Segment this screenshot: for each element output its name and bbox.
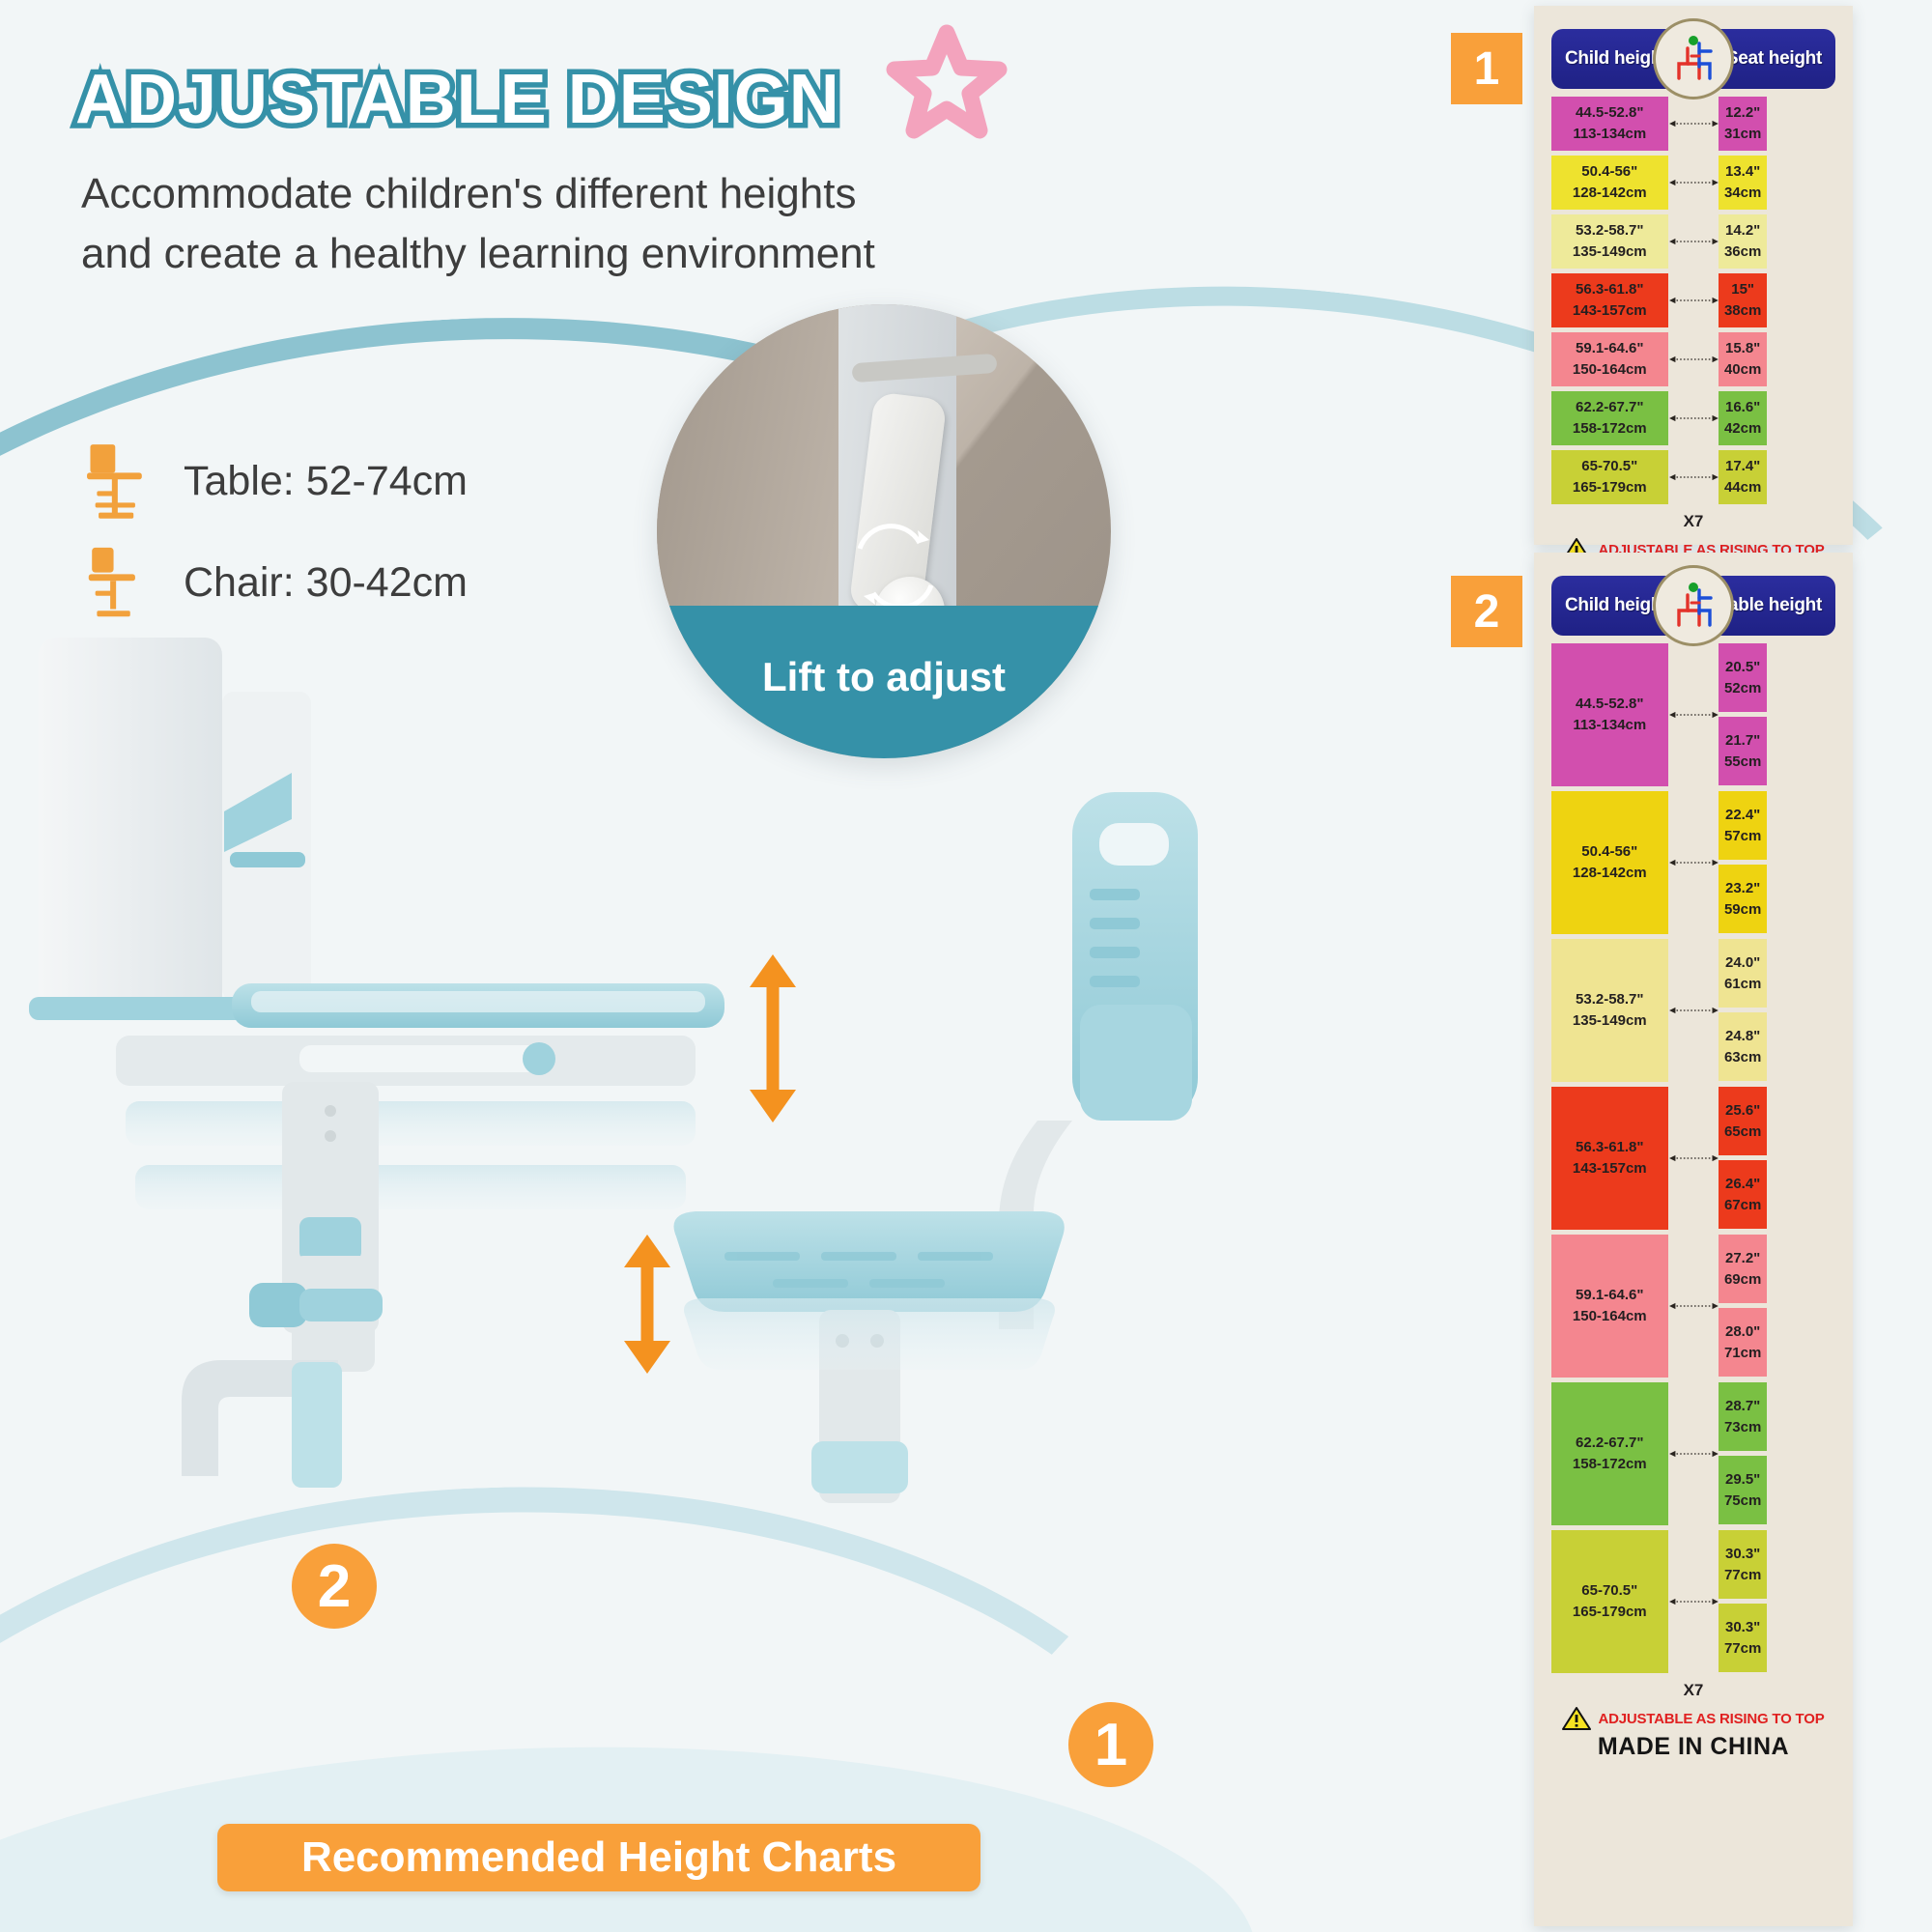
child-height-cell: 44.5-52.8"113-134cm bbox=[1551, 97, 1668, 151]
target-height-group: 30.3"77cm30.3"77cm bbox=[1719, 1530, 1835, 1673]
child-height-cm: 113-134cm bbox=[1573, 124, 1646, 145]
height-inch: 22.4" bbox=[1725, 805, 1760, 826]
badge-chair-adjustment: 1 bbox=[1068, 1702, 1153, 1787]
height-cm: 59cm bbox=[1724, 899, 1761, 921]
subtitle-line-1: Accommodate children's different heights bbox=[81, 164, 1047, 224]
double-arrow-icon bbox=[1668, 1004, 1719, 1017]
table-height-cell: 27.2"69cm bbox=[1719, 1235, 1766, 1303]
height-inch: 28.7" bbox=[1725, 1396, 1760, 1417]
height-cm: 67cm bbox=[1724, 1195, 1761, 1216]
chart-2-header: Child height Table height bbox=[1551, 576, 1835, 636]
chart-2-made-in: MADE IN CHINA bbox=[1551, 1733, 1835, 1761]
table-height-cell: 21.7"55cm bbox=[1719, 717, 1766, 785]
child-height-cm: 113-134cm bbox=[1573, 715, 1646, 736]
chart-marker-1: 1 bbox=[1451, 33, 1522, 104]
table-height-cell: 26.4"67cm bbox=[1719, 1160, 1766, 1229]
row-arrow bbox=[1668, 791, 1719, 934]
chart-row: 59.1-64.6"150-164cm27.2"69cm28.0"71cm bbox=[1551, 1235, 1835, 1378]
target-height-group: 27.2"69cm28.0"71cm bbox=[1719, 1235, 1835, 1378]
chart-2-rows: 44.5-52.8"113-134cm20.5"52cm21.7"55cm50.… bbox=[1551, 643, 1835, 1673]
table-height-cell: 28.0"71cm bbox=[1719, 1308, 1766, 1377]
table-height-cell: 28.7"73cm bbox=[1719, 1382, 1766, 1451]
product-photo bbox=[10, 599, 1381, 1874]
child-height-cell: 53.2-58.7"135-149cm bbox=[1551, 939, 1668, 1082]
target-height-group: 28.7"73cm29.5"75cm bbox=[1719, 1382, 1835, 1525]
child-height-inch: 44.5-52.8" bbox=[1576, 102, 1644, 124]
height-cm: 71cm bbox=[1724, 1343, 1761, 1364]
target-height-group: 17.4"44cm bbox=[1719, 450, 1835, 504]
target-height-group: 12.2"31cm bbox=[1719, 97, 1835, 151]
child-height-inch: 53.2-58.7" bbox=[1576, 220, 1644, 241]
height-inch: 30.3" bbox=[1725, 1617, 1760, 1638]
height-cm: 61cm bbox=[1724, 974, 1761, 995]
child-height-cell: 65-70.5"165-179cm bbox=[1551, 1530, 1668, 1673]
chart-2-header-right: Table height bbox=[1719, 595, 1822, 616]
child-height-cm: 143-157cm bbox=[1573, 300, 1647, 322]
child-height-inch: 56.3-61.8" bbox=[1576, 279, 1644, 300]
row-arrow bbox=[1668, 332, 1719, 386]
row-arrow bbox=[1668, 156, 1719, 210]
height-cm: 65cm bbox=[1724, 1122, 1761, 1143]
chart-1-x7: X7 bbox=[1551, 512, 1835, 531]
seat-height-cell: 15"38cm bbox=[1719, 273, 1766, 327]
child-height-cell: 44.5-52.8"113-134cm bbox=[1551, 643, 1668, 786]
child-height-cm: 158-172cm bbox=[1573, 418, 1647, 440]
child-height-cm: 128-142cm bbox=[1573, 183, 1647, 204]
row-arrow bbox=[1668, 1530, 1719, 1673]
height-inch: 14.2" bbox=[1725, 220, 1760, 241]
double-arrow-icon bbox=[1668, 353, 1719, 366]
child-height-cm: 158-172cm bbox=[1573, 1454, 1647, 1475]
child-height-cell: 62.2-67.7"158-172cm bbox=[1551, 391, 1668, 445]
child-height-cm: 165-179cm bbox=[1573, 1602, 1647, 1623]
child-height-cm: 150-164cm bbox=[1573, 1306, 1647, 1327]
child-height-inch: 65-70.5" bbox=[1581, 1580, 1637, 1602]
height-cm: 42cm bbox=[1724, 418, 1761, 440]
seated-child-icon bbox=[1653, 18, 1734, 99]
double-arrow-icon bbox=[1668, 235, 1719, 248]
target-height-group: 25.6"65cm26.4"67cm bbox=[1719, 1087, 1835, 1230]
height-inch: 16.6" bbox=[1725, 397, 1760, 418]
table-height-cell: 24.8"63cm bbox=[1719, 1012, 1766, 1081]
seated-child-icon bbox=[1653, 565, 1734, 646]
badge-desk-adjustment: 2 bbox=[292, 1544, 377, 1629]
row-arrow bbox=[1668, 450, 1719, 504]
chart-row: 53.2-58.7"135-149cm14.2"36cm bbox=[1551, 214, 1835, 269]
chart-1-rows: 44.5-52.8"113-134cm12.2"31cm50.4-56"128-… bbox=[1551, 97, 1835, 504]
height-cm: 75cm bbox=[1724, 1491, 1761, 1512]
row-arrow bbox=[1668, 273, 1719, 327]
child-height-cm: 150-164cm bbox=[1573, 359, 1647, 381]
child-height-inch: 56.3-61.8" bbox=[1576, 1137, 1644, 1158]
seat-height-cell: 17.4"44cm bbox=[1719, 450, 1766, 504]
height-inch: 23.2" bbox=[1725, 878, 1760, 899]
chart-1-header-right: Seat height bbox=[1726, 48, 1822, 70]
double-arrow-icon bbox=[1668, 1595, 1719, 1608]
seat-height-cell: 16.6"42cm bbox=[1719, 391, 1766, 445]
target-height-group: 20.5"52cm21.7"55cm bbox=[1719, 643, 1835, 786]
height-inch: 28.0" bbox=[1725, 1321, 1760, 1343]
child-height-cell: 53.2-58.7"135-149cm bbox=[1551, 214, 1668, 269]
child-height-cell: 59.1-64.6"150-164cm bbox=[1551, 332, 1668, 386]
target-height-group: 14.2"36cm bbox=[1719, 214, 1835, 269]
chart-row: 44.5-52.8"113-134cm12.2"31cm bbox=[1551, 97, 1835, 151]
height-cm: 57cm bbox=[1724, 826, 1761, 847]
table-height-cell: 30.3"77cm bbox=[1719, 1530, 1766, 1599]
page-title: ADJUSTABLE DESIGN bbox=[75, 60, 840, 139]
target-height-group: 16.6"42cm bbox=[1719, 391, 1835, 445]
seat-height-cell: 15.8"40cm bbox=[1719, 332, 1766, 386]
seat-height-cell: 14.2"36cm bbox=[1719, 214, 1766, 269]
row-arrow bbox=[1668, 939, 1719, 1082]
height-inch: 30.3" bbox=[1725, 1544, 1760, 1565]
double-arrow-icon bbox=[1668, 412, 1719, 425]
child-height-cell: 65-70.5"165-179cm bbox=[1551, 450, 1668, 504]
chart-1-header: Child height Seat height bbox=[1551, 29, 1835, 89]
chart-row: 62.2-67.7"158-172cm16.6"42cm bbox=[1551, 391, 1835, 445]
chart-row: 56.3-61.8"143-157cm15"38cm bbox=[1551, 273, 1835, 327]
child-height-inch: 50.4-56" bbox=[1581, 161, 1637, 183]
child-height-cell: 56.3-61.8"143-157cm bbox=[1551, 273, 1668, 327]
child-height-cell: 62.2-67.7"158-172cm bbox=[1551, 1382, 1668, 1525]
warning-triangle-icon bbox=[1562, 1706, 1591, 1731]
height-cm: 38cm bbox=[1724, 300, 1761, 322]
table-height-cell: 29.5"75cm bbox=[1719, 1456, 1766, 1524]
double-arrow-icon bbox=[1668, 470, 1719, 484]
height-cm: 31cm bbox=[1724, 124, 1761, 145]
chart-2-warning-text: ADJUSTABLE AS RISING TO TOP bbox=[1598, 1711, 1824, 1727]
child-height-cell: 50.4-56"128-142cm bbox=[1551, 156, 1668, 210]
row-arrow bbox=[1668, 643, 1719, 786]
child-height-inch: 44.5-52.8" bbox=[1576, 694, 1644, 715]
chart-2-x7: X7 bbox=[1551, 1681, 1835, 1700]
chart-marker-2: 2 bbox=[1451, 576, 1522, 647]
spec-table: Table: 52-74cm bbox=[75, 440, 468, 523]
child-height-inch: 59.1-64.6" bbox=[1576, 338, 1644, 359]
child-height-cm: 128-142cm bbox=[1573, 863, 1647, 884]
height-inch: 27.2" bbox=[1725, 1248, 1760, 1269]
table-height-cell: 30.3"77cm bbox=[1719, 1604, 1766, 1672]
chart-row: 50.4-56"128-142cm13.4"34cm bbox=[1551, 156, 1835, 210]
double-arrow-icon bbox=[1668, 856, 1719, 869]
chart-row: 44.5-52.8"113-134cm20.5"52cm21.7"55cm bbox=[1551, 643, 1835, 786]
chart-row: 65-70.5"165-179cm30.3"77cm30.3"77cm bbox=[1551, 1530, 1835, 1673]
height-inch: 21.7" bbox=[1725, 730, 1760, 752]
target-height-group: 15.8"40cm bbox=[1719, 332, 1835, 386]
chart-2-warning: ADJUSTABLE AS RISING TO TOP bbox=[1551, 1706, 1835, 1731]
child-height-inch: 62.2-67.7" bbox=[1576, 1433, 1644, 1454]
height-cm: 63cm bbox=[1724, 1047, 1761, 1068]
height-inch: 12.2" bbox=[1725, 102, 1760, 124]
height-cm: 36cm bbox=[1724, 241, 1761, 263]
double-arrow-icon bbox=[1668, 708, 1719, 722]
chart-2-footer: X7 ADJUSTABLE AS RISING TO TOP MADE IN C… bbox=[1551, 1681, 1835, 1761]
height-inch: 25.6" bbox=[1725, 1100, 1760, 1122]
table-height-cell: 25.6"65cm bbox=[1719, 1087, 1766, 1155]
double-arrow-icon bbox=[1668, 294, 1719, 307]
target-height-group: 15"38cm bbox=[1719, 273, 1835, 327]
child-height-cm: 135-149cm bbox=[1573, 241, 1647, 263]
page-subtitle: Accommodate children's different heights… bbox=[81, 164, 1047, 285]
height-chart-table: Child height Table height 44.5-52.8"113-… bbox=[1534, 553, 1853, 1926]
height-inch: 26.4" bbox=[1725, 1174, 1760, 1195]
height-cm: 55cm bbox=[1724, 752, 1761, 773]
chart-row: 59.1-64.6"150-164cm15.8"40cm bbox=[1551, 332, 1835, 386]
row-arrow bbox=[1668, 1235, 1719, 1378]
child-height-inch: 62.2-67.7" bbox=[1576, 397, 1644, 418]
child-height-cm: 165-179cm bbox=[1573, 477, 1647, 498]
row-arrow bbox=[1668, 1382, 1719, 1525]
row-arrow bbox=[1668, 97, 1719, 151]
height-cm: 34cm bbox=[1724, 183, 1761, 204]
recommended-height-charts-banner: Recommended Height Charts bbox=[217, 1824, 980, 1891]
height-inch: 20.5" bbox=[1725, 657, 1760, 678]
child-height-cm: 135-149cm bbox=[1573, 1010, 1647, 1032]
table-height-cell: 20.5"52cm bbox=[1719, 643, 1766, 712]
double-arrow-icon bbox=[1668, 176, 1719, 189]
height-cm: 44cm bbox=[1724, 477, 1761, 498]
row-arrow bbox=[1668, 1087, 1719, 1230]
height-inch: 29.5" bbox=[1725, 1469, 1760, 1491]
height-inch: 13.4" bbox=[1725, 161, 1760, 183]
chart-row: 56.3-61.8"143-157cm25.6"65cm26.4"67cm bbox=[1551, 1087, 1835, 1230]
child-height-cell: 56.3-61.8"143-157cm bbox=[1551, 1087, 1668, 1230]
double-arrow-icon bbox=[1668, 1299, 1719, 1313]
child-height-cm: 143-157cm bbox=[1573, 1158, 1647, 1179]
chart-row: 62.2-67.7"158-172cm28.7"73cm29.5"75cm bbox=[1551, 1382, 1835, 1525]
spec-table-label: Table: 52-74cm bbox=[184, 458, 468, 505]
height-inch: 17.4" bbox=[1725, 456, 1760, 477]
height-cm: 73cm bbox=[1724, 1417, 1761, 1438]
target-height-group: 24.0"61cm24.8"63cm bbox=[1719, 939, 1835, 1082]
height-inch: 24.0" bbox=[1725, 952, 1760, 974]
child-height-cell: 59.1-64.6"150-164cm bbox=[1551, 1235, 1668, 1378]
row-arrow bbox=[1668, 214, 1719, 269]
height-cm: 77cm bbox=[1724, 1565, 1761, 1586]
chart-row: 53.2-58.7"135-149cm24.0"61cm24.8"63cm bbox=[1551, 939, 1835, 1082]
child-height-inch: 50.4-56" bbox=[1581, 841, 1637, 863]
double-arrow-icon bbox=[1668, 1447, 1719, 1461]
child-height-inch: 59.1-64.6" bbox=[1576, 1285, 1644, 1306]
height-cm: 77cm bbox=[1724, 1638, 1761, 1660]
height-inch: 15.8" bbox=[1725, 338, 1760, 359]
table-height-cell: 24.0"61cm bbox=[1719, 939, 1766, 1008]
table-height-cell: 22.4"57cm bbox=[1719, 791, 1766, 860]
height-cm: 52cm bbox=[1724, 678, 1761, 699]
height-cm: 40cm bbox=[1724, 359, 1761, 381]
seat-height-cell: 12.2"31cm bbox=[1719, 97, 1766, 151]
subtitle-line-2: and create a healthy learning environmen… bbox=[81, 224, 1047, 284]
height-inch: 15" bbox=[1731, 279, 1754, 300]
height-chart-seat: Child height Seat height 44.5-52.8"113-1… bbox=[1534, 6, 1853, 545]
infographic-canvas: ADJUSTABLE DESIGN Accommodate children's… bbox=[0, 0, 1932, 1932]
target-height-group: 13.4"34cm bbox=[1719, 156, 1835, 210]
double-arrow-icon bbox=[1668, 1151, 1719, 1165]
child-height-cell: 50.4-56"128-142cm bbox=[1551, 791, 1668, 934]
double-arrow-icon bbox=[1668, 117, 1719, 130]
chart-row: 50.4-56"128-142cm22.4"57cm23.2"59cm bbox=[1551, 791, 1835, 934]
chart-row: 65-70.5"165-179cm17.4"44cm bbox=[1551, 450, 1835, 504]
star-icon bbox=[884, 17, 1009, 143]
row-arrow bbox=[1668, 391, 1719, 445]
table-height-cell: 23.2"59cm bbox=[1719, 865, 1766, 933]
child-height-inch: 65-70.5" bbox=[1581, 456, 1637, 477]
height-cm: 69cm bbox=[1724, 1269, 1761, 1291]
child-height-inch: 53.2-58.7" bbox=[1576, 989, 1644, 1010]
seat-height-cell: 13.4"34cm bbox=[1719, 156, 1766, 210]
height-inch: 24.8" bbox=[1725, 1026, 1760, 1047]
target-height-group: 22.4"57cm23.2"59cm bbox=[1719, 791, 1835, 934]
desk-icon bbox=[75, 440, 158, 523]
